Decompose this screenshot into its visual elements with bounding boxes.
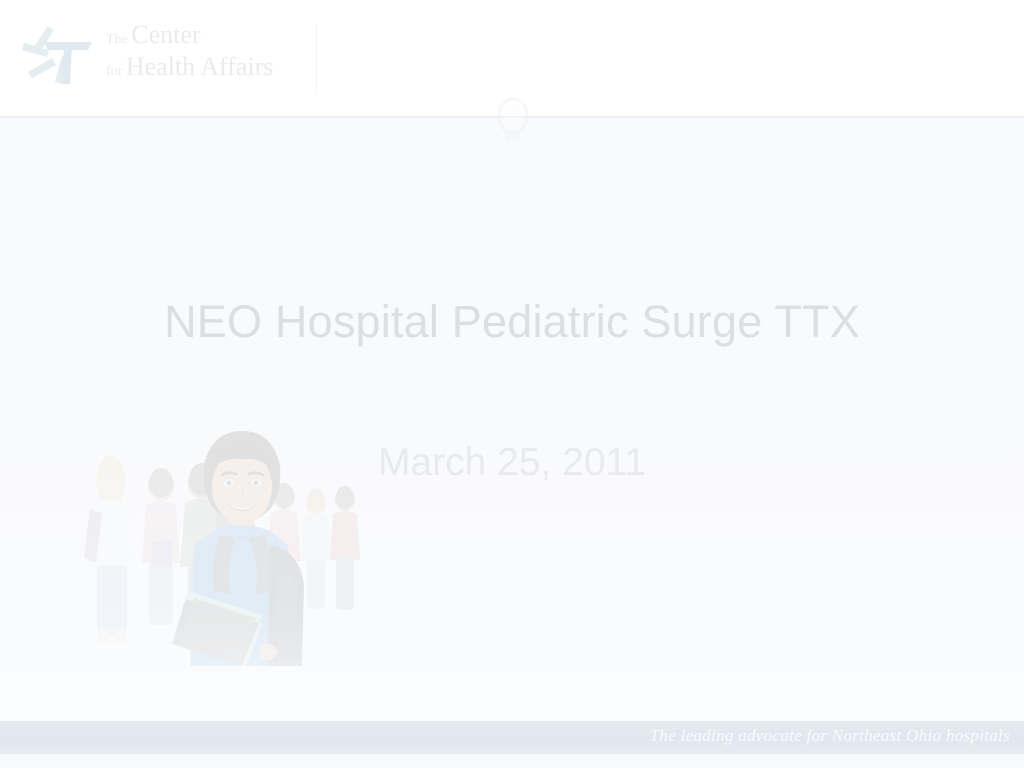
brand-word-center: Center [131, 20, 200, 49]
slide-title: NEO Hospital Pediatric Surge TTX [0, 296, 1024, 348]
footer-underlay [0, 754, 1024, 768]
brand-logo: The Center for Health Affairs [18, 18, 308, 94]
brand-word-the: The [106, 32, 131, 47]
brand-wordmark-line2: for Health Affairs [106, 54, 311, 80]
brand-word-health-affairs: Health Affairs [126, 52, 274, 81]
brand-wordmark: The Center for Health Affairs [106, 22, 311, 80]
footer-tagline: The leading advocate for Northeast Ohio … [650, 726, 1010, 746]
brand-wordmark-line1: The Center [106, 22, 311, 48]
brand-word-for: for [106, 64, 126, 79]
students-with-backpacks-photo [64, 413, 364, 666]
presentation-slide: The Center for Health Affairs NEO Hospit… [0, 0, 1024, 768]
star-logo-icon [18, 22, 96, 88]
logo-vertical-divider [316, 24, 317, 90]
decorative-seal-emblem [492, 96, 534, 144]
